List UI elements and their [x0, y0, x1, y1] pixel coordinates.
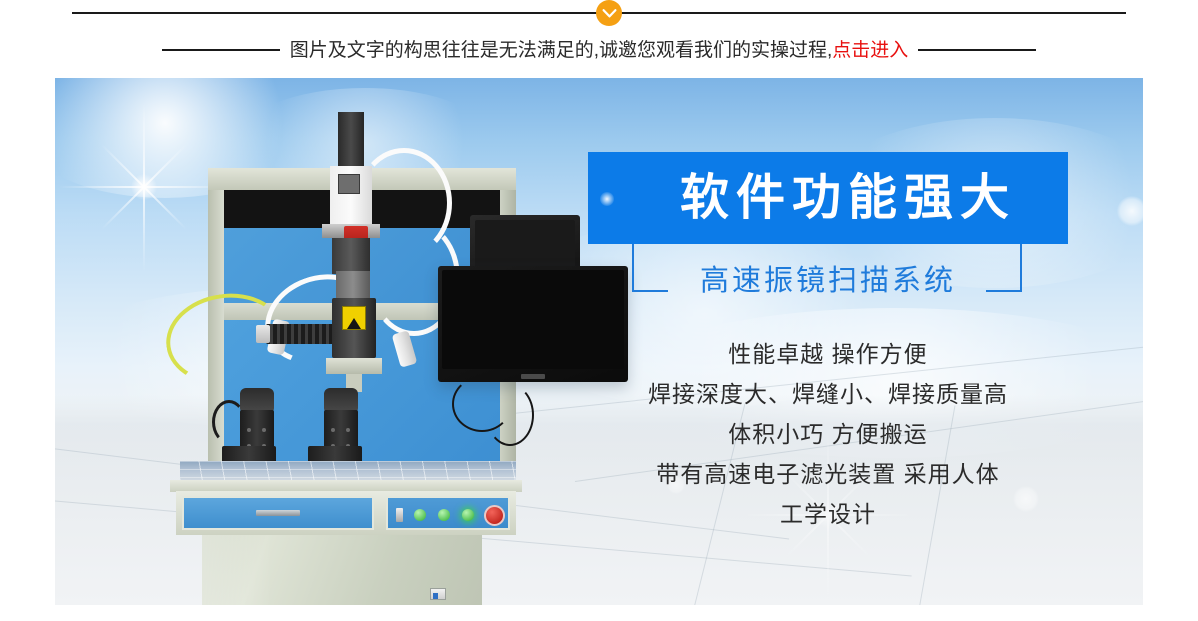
hero-content: 软件功能强大 高速振镜扫描系统 性能卓越 操作方便 焊接深度大、焊缝小、焊接质量… [0, 0, 1198, 621]
feature-line: 焊接深度大、焊缝小、焊接质量高 [560, 374, 1096, 414]
feature-line: 带有高速电子滤光装置 采用人体 [560, 454, 1096, 494]
hero-subtitle: 高速振镜扫描系统 [588, 266, 1068, 298]
hero-banner: 软件功能强大 [588, 152, 1068, 244]
feature-line: 工学设计 [560, 494, 1096, 534]
feature-line: 性能卓越 操作方便 [560, 334, 1096, 374]
hero-banner-title: 软件功能强大 [640, 174, 1016, 223]
feature-list: 性能卓越 操作方便 焊接深度大、焊缝小、焊接质量高 体积小巧 方便搬运 带有高速… [560, 334, 1096, 534]
feature-line: 体积小巧 方便搬运 [560, 414, 1096, 454]
banner-bokeh-dot [600, 192, 614, 206]
product-banner-page: 图片及文字的构思往往是无法满足的,诚邀您观看我们的实操过程,点击进入 [0, 0, 1198, 621]
